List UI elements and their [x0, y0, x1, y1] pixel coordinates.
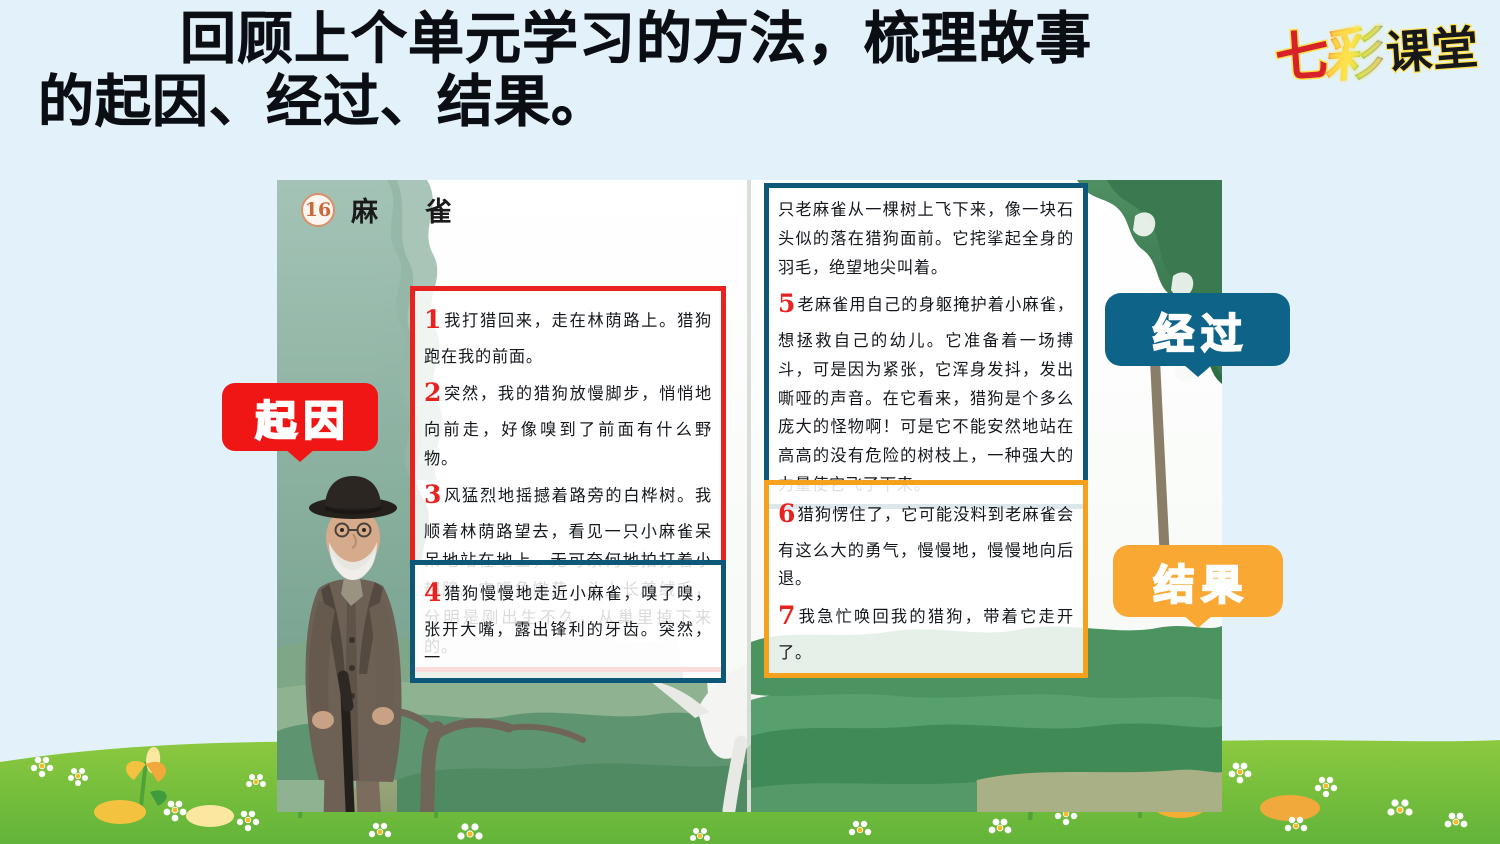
textbook-page-image: 16 麻 雀 1我打猎回来，走在林荫路上。猎狗跑在我的前面。 2突然，我的猎狗放…: [277, 180, 1222, 812]
lesson-title-text: 麻 雀: [351, 190, 462, 229]
paragraph-number-6: 6: [778, 499, 796, 528]
callout-process[interactable]: 经过: [1105, 293, 1290, 366]
paragraph-4: 4猎狗慢慢地走近小麻雀，嗅了嗅，张开大嘴，露出锋利的牙齿。突然，一: [424, 571, 712, 673]
paragraph-number-1: 1: [424, 305, 442, 334]
paragraph-text-5: 老麻雀用自己的身躯掩护着小麻雀，想拯救自己的幼儿。它准备着一场搏斗，可是因为紧张…: [778, 295, 1074, 494]
paragraph-text-7: 我急忙唤回我的猎狗，带着它走开了。: [778, 607, 1074, 662]
paragraph-text-4-cont: 只老麻雀从一棵树上飞下来，像一块石头似的落在猎狗面前。它挓挲起全身的羽毛，绝望地…: [778, 200, 1074, 277]
paragraph-5: 5老麻雀用自己的身躯掩护着小麻雀，想拯救自己的幼儿。它准备着一场搏斗，可是因为紧…: [778, 282, 1074, 499]
paragraph-number-4: 4: [424, 578, 442, 607]
slide-canvas: 回顾上个单元学习的方法，梳理故事 的起因、经过、结果。 七 彩 课堂: [0, 0, 1500, 844]
paragraph-1: 1我打猎回来，走在林荫路上。猎狗跑在我的前面。: [424, 298, 712, 371]
paragraph-number-5: 5: [778, 289, 796, 318]
paragraph-text-1: 我打猎回来，走在林荫路上。猎狗跑在我的前面。: [424, 311, 712, 366]
paragraph-7: 7我急忙唤回我的猎狗，带着它走开了。: [778, 594, 1074, 667]
logo-char-qi: 七: [1273, 29, 1330, 84]
paragraph-2: 2突然，我的猎狗放慢脚步，悄悄地向前走，好像嗅到了前面有什么野物。: [424, 371, 712, 473]
paragraph-6: 6猎狗愣住了，它可能没料到老麻雀会有这么大的勇气，慢慢地，慢慢地向后退。: [778, 492, 1074, 594]
text-block-process-start: 4猎狗慢慢地走近小麻雀，嗅了嗅，张开大嘴，露出锋利的牙齿。突然，一: [410, 560, 726, 683]
lesson-header: 16 麻 雀: [301, 190, 462, 229]
paragraph-text-6: 猎狗愣住了，它可能没料到老麻雀会有这么大的勇气，慢慢地，慢慢地向后退。: [778, 505, 1074, 588]
text-block-process-cont: 只老麻雀从一棵树上飞下来，像一块石头似的落在猎狗面前。它挓挲起全身的羽毛，绝望地…: [764, 183, 1088, 509]
brand-logo: 七 彩 课堂: [1273, 19, 1479, 84]
title-line-1: 回顾上个单元学习的方法，梳理故事: [20, 8, 1480, 71]
paragraph-4-cont: 只老麻雀从一棵树上飞下来，像一块石头似的落在猎狗面前。它挓挲起全身的羽毛，绝望地…: [778, 196, 1074, 282]
title-line-2: 的起因、经过、结果。: [20, 71, 1480, 134]
text-block-result: 6猎狗愣住了，它可能没料到老麻雀会有这么大的勇气，慢慢地，慢慢地向后退。 7我急…: [764, 480, 1088, 678]
paragraph-text-4: 猎狗慢慢地走近小麻雀，嗅了嗅，张开大嘴，露出锋利的牙齿。突然，一: [424, 584, 712, 667]
paragraph-text-2: 突然，我的猎狗放慢脚步，悄悄地向前走，好像嗅到了前面有什么野物。: [424, 384, 712, 467]
lesson-number-badge: 16: [301, 193, 335, 227]
paragraph-number-2: 2: [424, 378, 442, 407]
callout-cause[interactable]: 起因: [222, 383, 378, 451]
logo-char-ketang: 课堂: [1385, 24, 1480, 76]
callout-result[interactable]: 结果: [1113, 545, 1283, 617]
logo-char-cai: 彩: [1324, 25, 1386, 85]
paragraph-number-7: 7: [778, 601, 796, 630]
paragraph-number-3: 3: [424, 480, 442, 509]
